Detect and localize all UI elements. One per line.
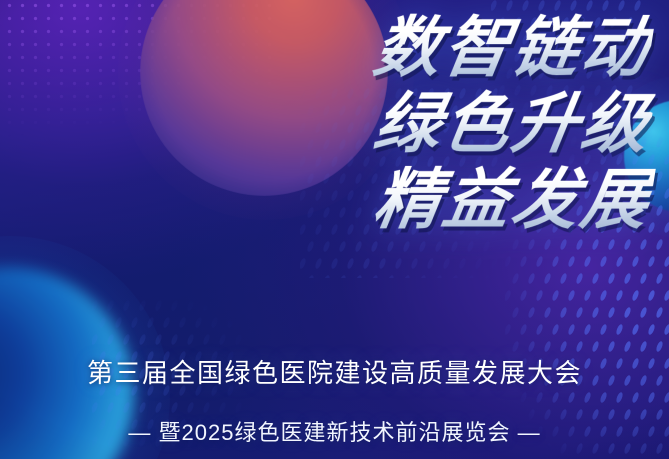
headline-line-1: 数智链动 [0, 6, 657, 88]
headline-line-2: 绿色升级 [0, 82, 657, 164]
poster-headline: 数智链动 绿色升级 精益发展 [0, 6, 651, 240]
exhibition-subtitle: — 暨2025绿色医建新技术前沿展览会 — [0, 418, 669, 448]
conference-poster: 数智链动 绿色升级 精益发展 第三届全国绿色医院建设高质量发展大会 — 暨202… [0, 0, 669, 459]
headline-line-3: 精益发展 [0, 158, 657, 240]
conference-title: 第三届全国绿色医院建设高质量发展大会 [0, 356, 669, 390]
